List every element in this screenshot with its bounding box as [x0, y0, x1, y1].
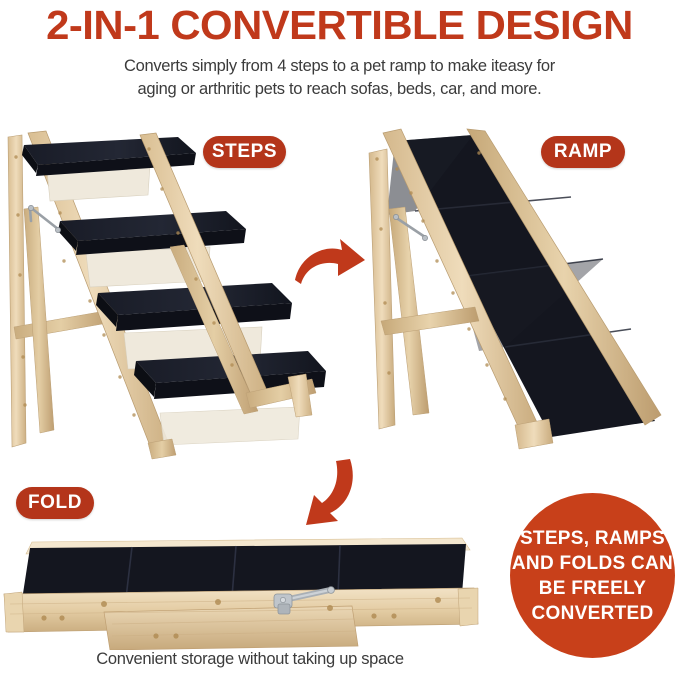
badge-fold: FOLD [16, 487, 94, 519]
circle-callout-line-2: AND FOLDS CAN [512, 551, 673, 576]
badge-ramp: RAMP [541, 136, 625, 168]
product-image-folded [0, 520, 500, 650]
circle-callout-line-3: BE FREELY [539, 576, 647, 601]
storage-caption: Convenient storage without taking up spa… [0, 650, 500, 669]
circle-callout-line-4: CONVERTED [532, 601, 654, 626]
page-title: 2-IN-1 CONVERTIBLE DESIGN [0, 2, 679, 48]
infographic-canvas: 2-IN-1 CONVERTIBLE DESIGN Converts simpl… [0, 0, 679, 680]
subtitle-line-2: aging or arthritic pets to reach sofas, … [0, 78, 679, 101]
circle-callout-line-1: STEPS, RAMPS [520, 526, 665, 551]
product-image-ramp [355, 125, 679, 465]
circle-callout: STEPS, RAMPS AND FOLDS CAN BE FREELY CON… [510, 493, 675, 658]
subtitle-line-1: Converts simply from 4 steps to a pet ra… [0, 55, 679, 78]
badge-steps: STEPS [203, 136, 286, 168]
product-image-steps [0, 125, 330, 465]
curved-arrow-down-icon [272, 455, 360, 529]
